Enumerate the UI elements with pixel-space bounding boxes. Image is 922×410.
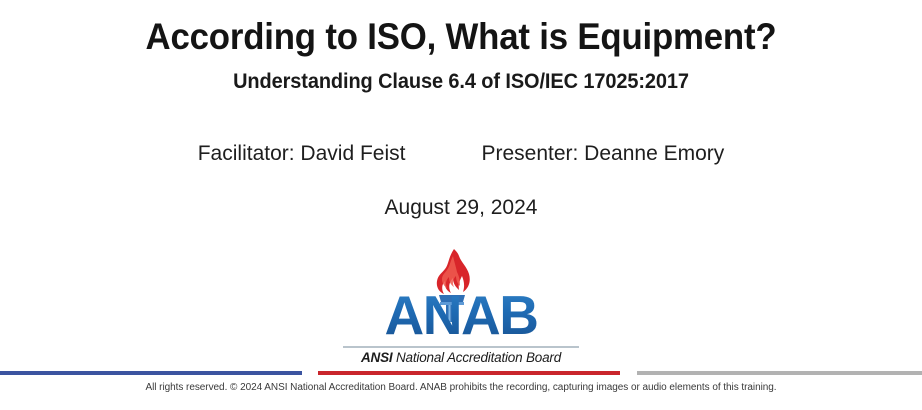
presentation-slide: According to ISO, What is Equipment? Und… [0,0,922,410]
logo-tagline-rest: National Accreditation Board [392,350,561,365]
divider-bar-blue [0,371,302,375]
page-subtitle: Understanding Clause 6.4 of ISO/IEC 1702… [23,70,899,94]
anab-logo: ANAB ANSI National Accreditation Board [331,248,591,366]
anab-wordmark: ANAB [331,288,591,343]
anab-logo-mark: ANAB ANSI National Accreditation Board [331,248,591,344]
divider-bar-red [318,371,620,375]
divider-bar-gray [637,371,922,375]
facilitator-label: Facilitator: David Feist [198,142,406,166]
logo-divider [343,346,579,348]
credits-row: Facilitator: David FeistPresenter: Deann… [0,142,922,166]
logo-tagline: ANSI National Accreditation Board [331,350,591,365]
page-title: According to ISO, What is Equipment? [28,16,895,58]
logo-tagline-ansi: ANSI [361,350,392,365]
presentation-date: August 29, 2024 [0,196,922,220]
presenter-label: Presenter: Deanne Emory [481,142,724,166]
footer-copyright: All rights reserved. © 2024 ANSI Nationa… [0,382,922,393]
